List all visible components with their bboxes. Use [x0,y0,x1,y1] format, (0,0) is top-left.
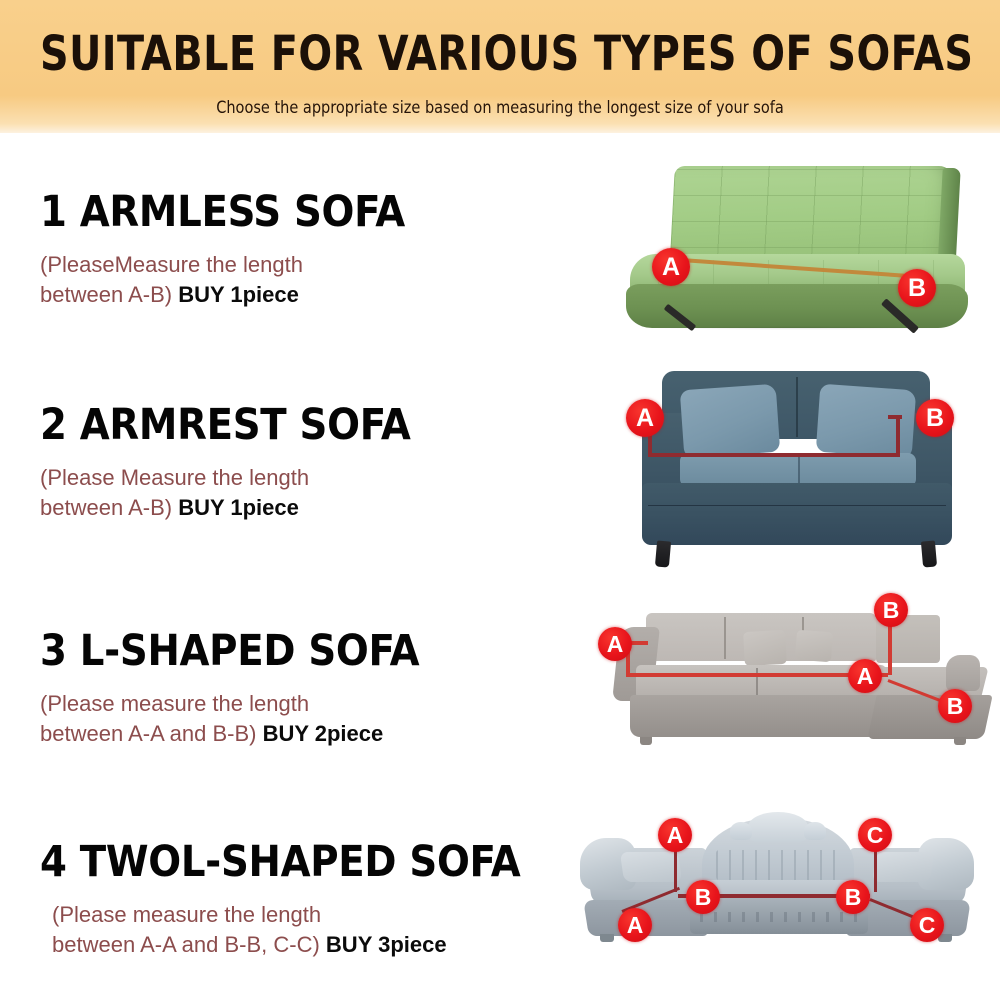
marker-a-bottom: A [618,908,652,942]
section-4-note-line2: between A-A and B-B, C-C) [52,932,320,957]
section-4-note: (Please measure the length between A-A a… [52,900,540,960]
section-1-note-line2: between A-B) [40,282,172,307]
measure-line-right-arm-top [888,415,902,419]
section-2-note-line1: (Please Measure the length [40,465,309,490]
sofa-carved-crown [748,812,808,842]
section-2-illustration: A B [600,365,992,577]
sofa-back-pillow-right [816,384,917,459]
marker-a-top: A [658,818,692,852]
section-1-illustration: A B [600,156,992,346]
measure-line-a-b [648,453,900,457]
section-2-heading: 2 ARMREST SOFA [40,401,540,449]
page-subtitle: Choose the appropriate size based on mea… [25,97,975,119]
section-2-text-block: 2 ARMREST SOFA (Please Measure the lengt… [40,401,540,523]
section-4-note-line1: (Please measure the length [52,902,321,927]
marker-a-left: A [626,399,664,437]
marker-b-right: B [916,399,954,437]
sofa-leg-left [655,540,671,567]
section-l-shaped-sofa: 3 L-SHAPED SOFA (Please measure the leng… [0,585,1000,780]
section-2-buy-label: BUY 1piece [178,495,299,520]
section-3-buy-label: BUY 2piece [263,721,384,746]
infographic-page: SUITABLE FOR VARIOUS TYPES OF SOFAS Choo… [0,0,1000,1000]
marker-a-left: A [598,627,632,661]
sofa-floor-shadow [640,326,960,330]
marker-b-chaise: B [938,689,972,723]
sofa-chaise-armrest [946,655,980,691]
section-3-note: (Please measure the length between A-A a… [40,689,540,749]
sofa-wing-cushion-right [872,852,934,882]
twol-shaped-sofa-graphic: A B B C A C [574,814,980,966]
marker-b-left: B [686,880,720,914]
section-2-note: (Please Measure the length between A-B) … [40,463,540,523]
measure-line-right-arm [896,415,900,457]
section-1-note: (PleaseMeasure the length between A-B) B… [40,250,540,310]
marker-c-top: C [858,818,892,852]
sofa-foot-left [640,737,652,745]
page-title: SUITABLE FOR VARIOUS TYPES OF SOFAS [40,28,960,80]
section-3-note-line1: (Please measure the length [40,691,309,716]
section-1-note-line1: (PleaseMeasure the length [40,252,303,277]
marker-a-left: A [652,248,690,286]
l-shaped-sofa-graphic: A B A B [590,591,992,771]
sofa-chaise-base [867,695,992,739]
section-1-buy-label: BUY 1piece [178,282,299,307]
marker-a-corner: A [848,659,882,693]
section-3-illustration: A B A B [590,591,992,771]
armless-sofa-graphic: A B [600,156,992,346]
sofa-throw-pillow-2 [795,630,833,662]
section-4-buy-label: BUY 3piece [326,932,447,957]
marker-b-right: B [898,269,936,307]
sofa-back-pillow-left [680,384,781,459]
sofa-throw-pillow-1 [743,630,787,666]
sofa-wing-cushion-left [620,852,682,882]
sofa-seat-cushion [680,453,916,487]
section-1-heading: 1 ARMLESS SOFA [40,188,540,236]
section-4-heading: 4 TWOL-SHAPED SOFA [40,838,540,886]
section-4-text-block: 4 TWOL-SHAPED SOFA (Please measure the l… [40,838,540,960]
section-twol-shaped-sofa: 4 TWOL-SHAPED SOFA (Please measure the l… [0,800,1000,990]
section-3-note-line2: between A-A and B-B) [40,721,256,746]
marker-b-right: B [836,880,870,914]
sofa-foot-right [954,737,966,745]
section-1-text-block: 1 ARMLESS SOFA (PleaseMeasure the length… [40,188,540,310]
section-2-note-line2: between A-B) [40,495,172,520]
section-armrest-sofa: 2 ARMREST SOFA (Please Measure the lengt… [0,363,1000,578]
sofa-leg-right [921,540,937,567]
section-4-illustration: A B B C A C [574,814,980,966]
section-3-heading: 3 L-SHAPED SOFA [40,627,540,675]
sofa-foot-left [600,934,614,942]
section-armless-sofa: 1 ARMLESS SOFA (PleaseMeasure the length… [0,150,1000,360]
armrest-sofa-graphic: A B [600,365,992,577]
marker-b-top: B [874,593,908,627]
header-banner: SUITABLE FOR VARIOUS TYPES OF SOFAS Choo… [0,0,1000,133]
sofa-base [630,695,888,737]
sofa-base [642,483,952,545]
marker-c-bottom: C [910,908,944,942]
section-3-text-block: 3 L-SHAPED SOFA (Please measure the leng… [40,627,540,749]
